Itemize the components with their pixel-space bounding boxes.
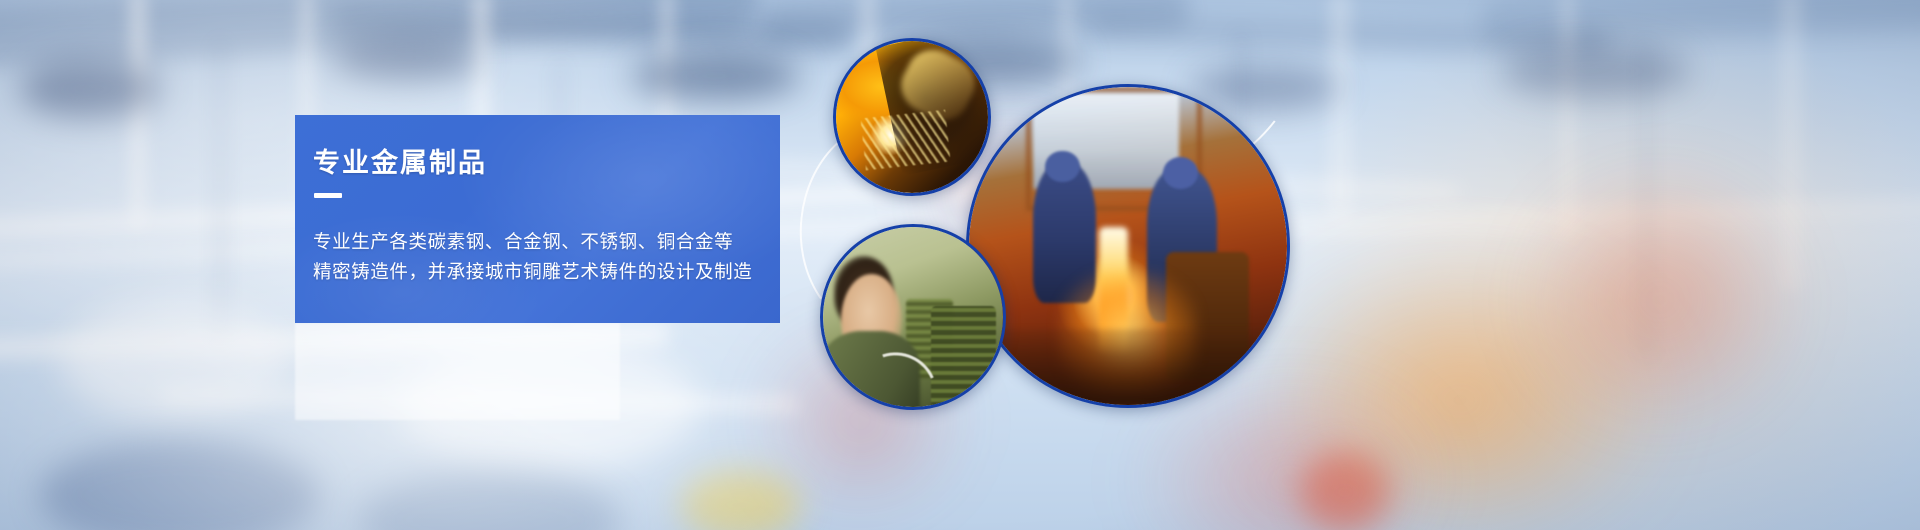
foundry-pour-photo[interactable] — [966, 84, 1290, 408]
panel-shadow-card — [295, 323, 620, 420]
promo-description-line-1: 专业生产各类碳素钢、合金钢、不锈钢、铜合金等 — [313, 227, 773, 257]
assembly-worker-photo[interactable] — [820, 224, 1006, 410]
promo-description-line-2: 精密铸造件，并承接城市铜雕艺术铸件的设计及制造 — [313, 257, 773, 287]
promo-panel: 专业金属制品 专业生产各类碳素钢、合金钢、不锈钢、铜合金等 精密铸造件，并承接城… — [295, 115, 780, 323]
welding-sparks-photo[interactable] — [833, 38, 991, 196]
promo-description: 专业生产各类碳素钢、合金钢、不锈钢、铜合金等 精密铸造件，并承接城市铜雕艺术铸件… — [313, 227, 773, 287]
page-title: 专业金属制品 — [313, 141, 487, 180]
title-divider — [314, 193, 342, 198]
hero-banner: 专业金属制品 专业生产各类碳素钢、合金钢、不锈钢、铜合金等 精密铸造件，并承接城… — [0, 0, 1920, 530]
